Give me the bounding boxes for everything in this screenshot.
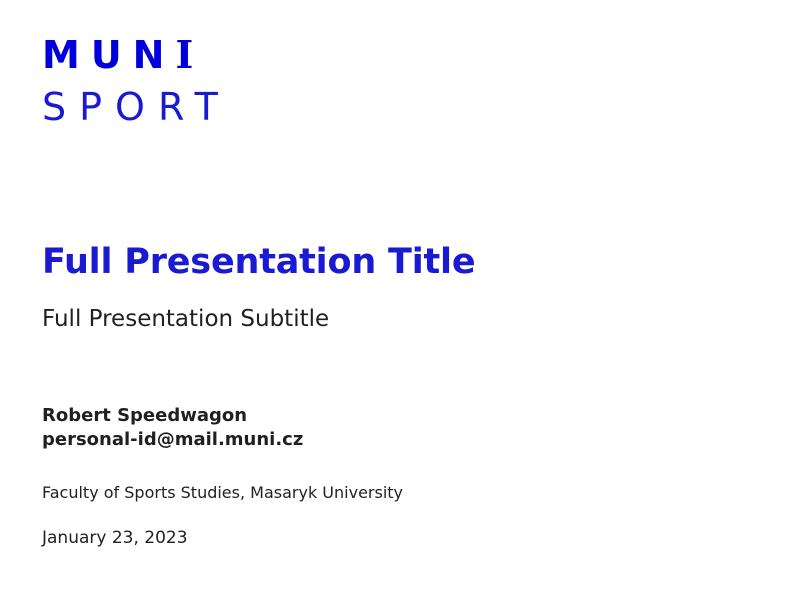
logo-muni-wordmark: MUNI <box>42 36 231 78</box>
page-subtitle: Full Presentation Subtitle <box>42 306 329 334</box>
affiliation-text: Faculty of Sports Studies, Masaryk Unive… <box>42 483 403 502</box>
author-email: personal-id@mail.muni.cz <box>42 428 303 452</box>
logo-sport-wordmark: SPORT <box>42 88 231 130</box>
presentation-title-slide: MUNI SPORT Full Presentation Title Full … <box>0 0 794 596</box>
page-title: Full Presentation Title <box>42 243 475 282</box>
presentation-date: January 23, 2023 <box>42 528 188 548</box>
logo-muni-letters: MUN <box>42 33 175 77</box>
author-name: Robert Speedwagon <box>42 404 303 428</box>
muni-sport-logo: MUNI SPORT <box>42 36 231 130</box>
logo-muni-serif-i: I <box>175 32 193 77</box>
author-block: Robert Speedwagon personal-id@mail.muni.… <box>42 404 303 453</box>
